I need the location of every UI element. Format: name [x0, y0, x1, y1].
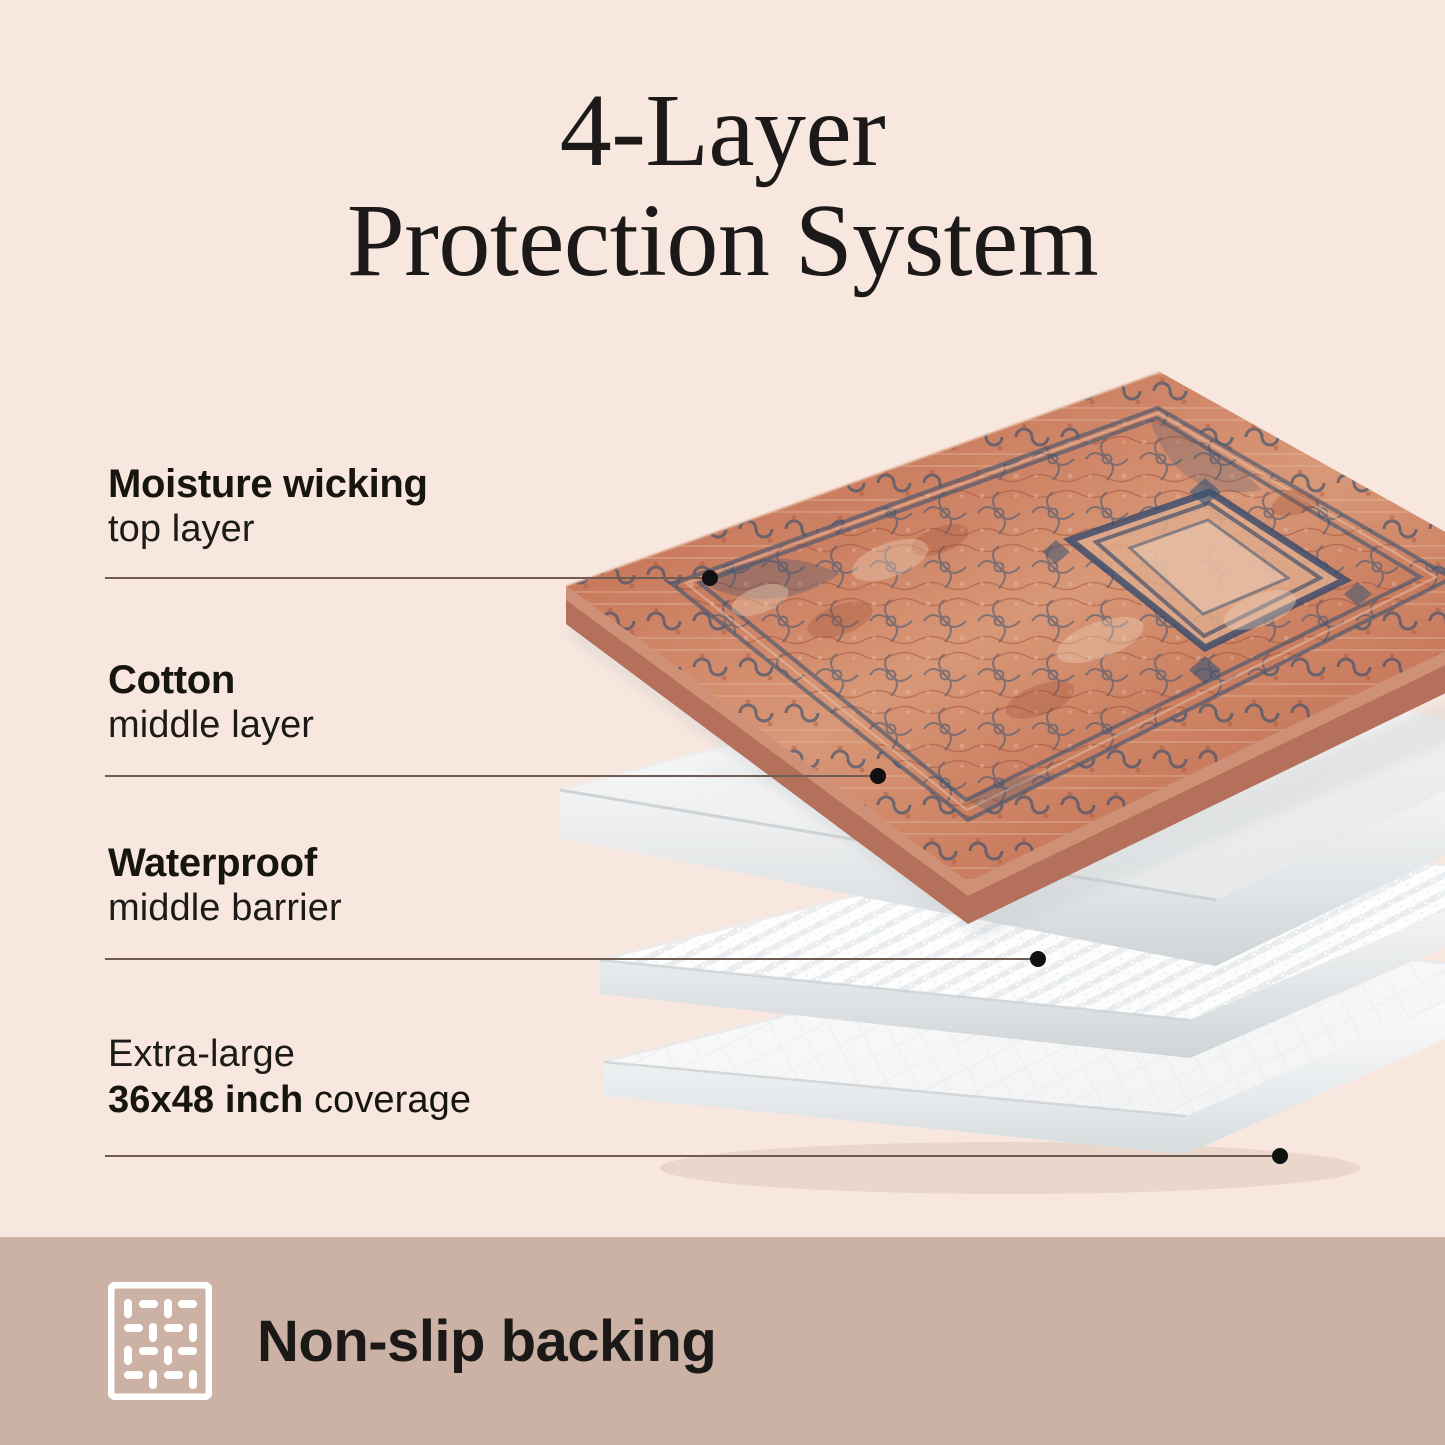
leader-dot-4	[1272, 1148, 1288, 1164]
callout-heading: Moisture wicking	[108, 461, 428, 507]
callout-cotton: Cotton middle layer	[108, 657, 314, 749]
callout-waterproof: Waterproof middle barrier	[108, 840, 342, 932]
callout-heading: Extra-large	[108, 1032, 471, 1078]
callout-size-value: 36x48 inch	[108, 1079, 303, 1121]
callout-subtext: middle layer	[108, 703, 314, 749]
callout-subtext: top layer	[108, 507, 428, 553]
callout-heading: Cotton	[108, 657, 314, 703]
callout-subtext: middle barrier	[108, 886, 342, 932]
callout-subtext: 36x48 inch coverage	[108, 1078, 471, 1124]
leader-dot-3	[1030, 951, 1046, 967]
non-slip-weave-icon	[108, 1282, 212, 1400]
callout-heading: Waterproof	[108, 840, 342, 886]
callout-moisture-wicking: Moisture wicking top layer	[108, 461, 428, 553]
callout-size-suffix: coverage	[303, 1079, 471, 1121]
callout-extra-large: Extra-large 36x48 inch coverage	[108, 1032, 471, 1123]
non-slip-label: Non-slip backing	[257, 1308, 716, 1375]
leader-dot-1	[702, 570, 718, 586]
leader-dot-2	[870, 768, 886, 784]
non-slip-banner: Non-slip backing	[0, 1237, 1445, 1445]
